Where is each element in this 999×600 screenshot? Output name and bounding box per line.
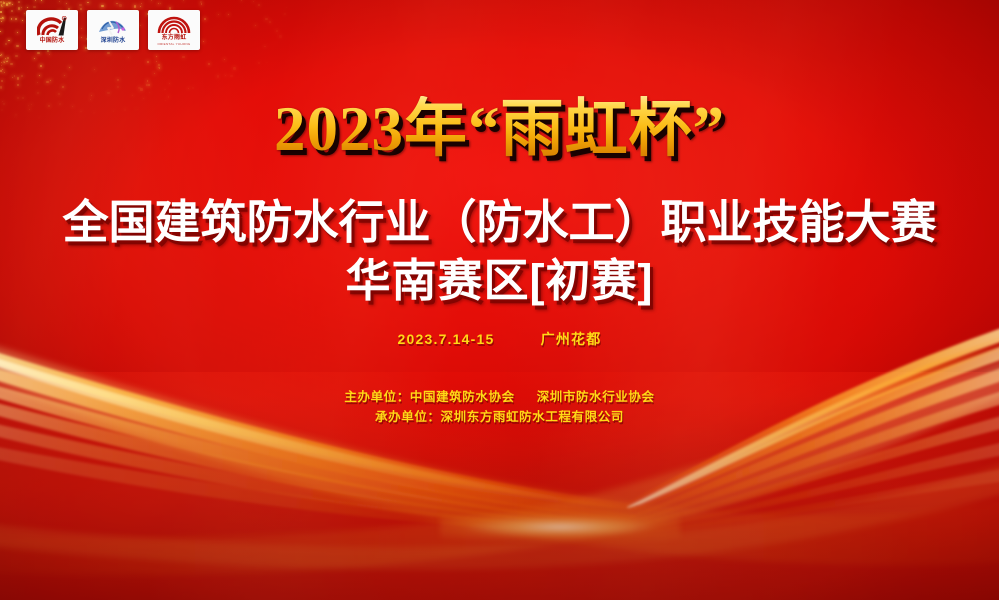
organizer-label: 承办单位： xyxy=(375,410,441,424)
logo-sublabel: ORIENTAL YUHONG xyxy=(157,42,190,46)
logo-shenzhen-waterproof[interactable]: 深圳防水 xyxy=(87,10,139,50)
shenzhen-waterproof-mark-icon xyxy=(96,16,130,37)
organizer-org-1: 深圳东方雨虹防水工程有限公司 xyxy=(441,410,624,424)
oriental-yuhong-mark-icon xyxy=(157,15,191,34)
logo-label: 深圳防水 xyxy=(101,38,126,45)
subtitle-line-2: 华南赛区[初赛] xyxy=(0,256,999,306)
logo-label: 中国防水 xyxy=(40,38,65,45)
bottom-shadow-gradient xyxy=(0,396,999,600)
china-waterproof-mark-icon: R xyxy=(37,16,67,37)
logo-china-waterproof-association[interactable]: R 中国防水 xyxy=(26,10,78,50)
host-label: 主办单位： xyxy=(344,390,410,404)
organizer-line: 承办单位：深圳东方雨虹防水工程有限公司 xyxy=(0,409,999,425)
logo-oriental-yuhong[interactable]: 东方雨虹 ORIENTAL YUHONG xyxy=(148,10,200,50)
main-title-gold: 2023年“雨虹杯” xyxy=(0,96,999,162)
host-org-1: 中国建筑防水协会 xyxy=(410,390,515,404)
event-location: 广州花都 xyxy=(541,331,602,347)
svg-text:R: R xyxy=(63,16,65,20)
event-date: 2023.7.14-15 xyxy=(398,331,495,347)
event-poster: R 中国防水 深圳防水 东方雨虹 ORIENTAL YUHONG xyxy=(0,0,999,600)
host-org-2: 深圳市防水行业协会 xyxy=(537,390,655,404)
host-organizations-line: 主办单位：中国建筑防水协会深圳市防水行业协会 xyxy=(0,389,999,405)
sponsor-logo-row: R 中国防水 深圳防水 东方雨虹 ORIENTAL YUHONG xyxy=(26,10,200,50)
event-meta-line: 2023.7.14-15 广州花都 xyxy=(0,330,999,348)
logo-label: 东方雨虹 xyxy=(162,35,187,42)
subtitle-line-1: 全国建筑防水行业（防水工）职业技能大赛 xyxy=(0,196,999,248)
